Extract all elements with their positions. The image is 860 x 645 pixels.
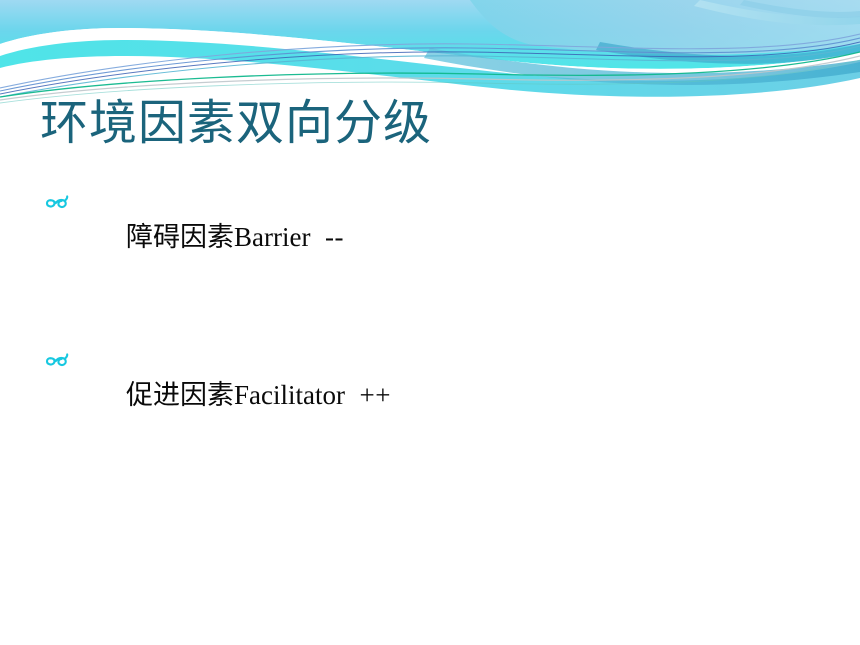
floral-swirl-bullet-icon bbox=[44, 190, 70, 216]
bullet-list: 障碍因素Barrier -- 促进因素Facilitator ++ bbox=[44, 186, 824, 447]
list-item-label: 障碍因素Barrier -- bbox=[72, 187, 344, 288]
list-item-label: 促进因素Facilitator ++ bbox=[72, 345, 391, 446]
bullet-1-sign: ++ bbox=[345, 380, 391, 410]
bullet-0-latin: Barrier bbox=[234, 222, 310, 252]
bullet-1-latin: Facilitator bbox=[234, 380, 345, 410]
list-item[interactable]: 促进因素Facilitator ++ bbox=[44, 344, 824, 446]
bullet-0-cjk: 障碍因素 bbox=[126, 222, 234, 253]
list-item[interactable]: 障碍因素Barrier -- bbox=[44, 186, 824, 288]
page-title: 环境因素双向分级 bbox=[40, 96, 820, 153]
bullet-0-sign: -- bbox=[310, 222, 343, 252]
bullet-1-cjk: 促进因素 bbox=[126, 380, 234, 411]
title-block: 环境因素双向分级 bbox=[40, 96, 820, 153]
floral-swirl-bullet-icon bbox=[44, 348, 70, 374]
presentation-slide: 环境因素双向分级 障碍因素Barrier -- bbox=[0, 0, 860, 645]
